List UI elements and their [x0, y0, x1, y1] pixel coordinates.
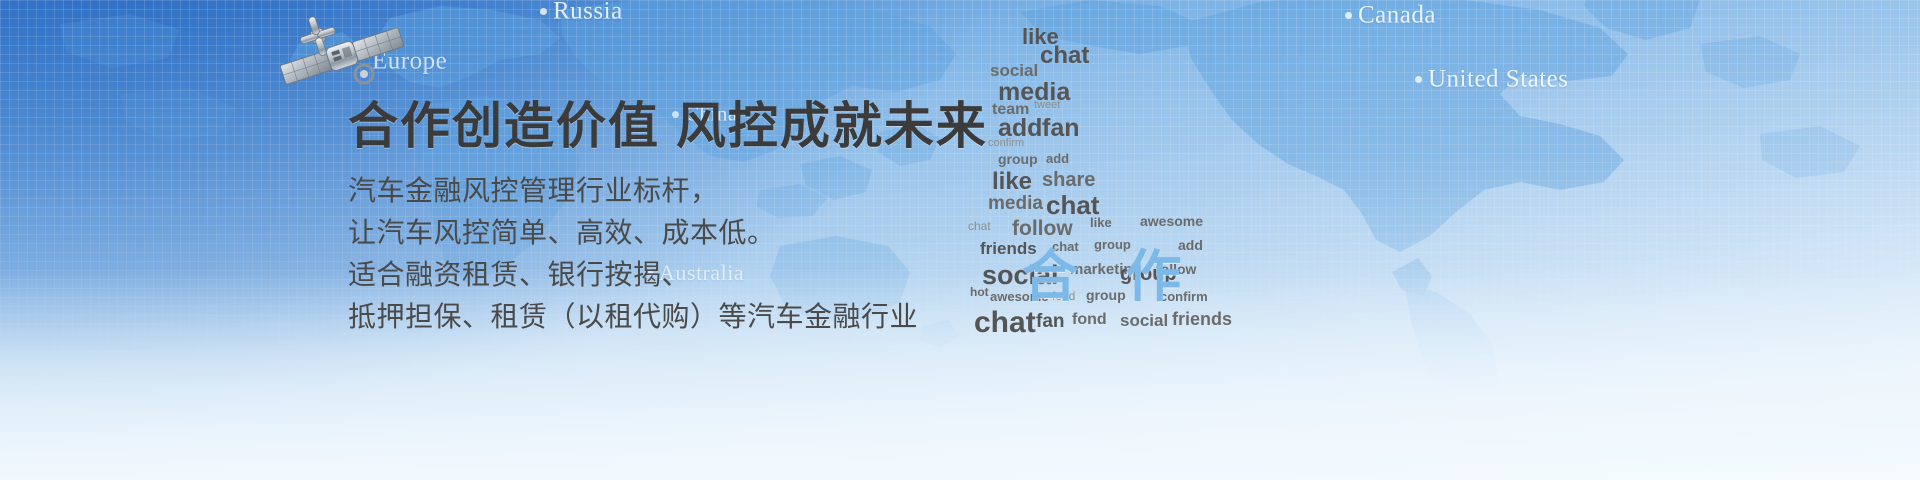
hero-banner: Russia Canada Europe United States China… — [0, 0, 1920, 480]
wordcloud-word: fond — [1072, 312, 1107, 328]
wordcloud-word: marketing — [1070, 262, 1142, 277]
map-pin-dot — [540, 8, 547, 15]
wordcloud-word: follow — [1156, 262, 1196, 276]
wordcloud-word: group — [998, 152, 1038, 166]
map-label-europe: Europe — [372, 46, 447, 75]
map-pin-dot — [1345, 12, 1352, 19]
wordcloud-word: hot — [970, 286, 989, 298]
wordcloud-word: awesome — [1140, 214, 1203, 228]
wordcloud-word: like — [1022, 26, 1059, 48]
wordcloud-word: chat — [1046, 192, 1099, 218]
wordcloud-word: chat — [1052, 240, 1079, 253]
wordcloud-word: social — [982, 262, 1059, 289]
wordcloud-word: add — [998, 116, 1042, 141]
map-label-text: Canada — [1358, 1, 1436, 28]
wordcloud-word: group — [1120, 264, 1177, 284]
map-label-canada: Canada — [1345, 0, 1436, 29]
wordcloud-word: fan — [1042, 116, 1080, 141]
wordcloud-word: confirm — [1160, 290, 1208, 303]
wordcloud-word: chat — [974, 308, 1036, 338]
map-label-russia: Russia — [540, 0, 623, 25]
map-label-text: Europe — [372, 47, 447, 74]
subcopy-line: 适合融资租赁、银行按揭、 — [348, 254, 968, 296]
subcopy-line: 抵押担保、租赁（以租代购）等汽车金融行业 — [348, 296, 968, 338]
wordcloud-word: fond — [1052, 290, 1075, 302]
wordcloud-word: group — [1086, 288, 1126, 302]
wordcloud-word: add — [1046, 152, 1069, 165]
wordcloud-word: confirm — [988, 138, 1024, 149]
wordcloud-word: awesome — [990, 290, 1049, 303]
satellite-icon — [278, 12, 406, 100]
wordcloud-word: add — [1178, 238, 1203, 252]
copy-block: 合作创造价值 风控成就未来 汽车金融风控管理行业标杆， 让汽车风控简单、高效、成… — [348, 98, 968, 338]
wordcloud-word: friends — [980, 240, 1037, 257]
wordcloud-word: like — [1090, 216, 1112, 229]
wordcloud-word: follow — [1012, 218, 1073, 239]
wordcloud-word: media — [988, 194, 1043, 213]
subcopy-block: 汽车金融风控管理行业标杆， 让汽车风控简单、高效、成本低。 适合融资租赁、银行按… — [348, 170, 968, 338]
subcopy-line: 让汽车风控简单、高效、成本低。 — [348, 212, 968, 254]
wordcloud-word: fan — [1036, 312, 1065, 331]
page-title: 合作创造价值 风控成就未来 — [348, 98, 968, 154]
wordcloud-word: social — [1120, 312, 1168, 329]
map-pin-dot — [1415, 76, 1422, 83]
wordcloud-thumbsup-graphic: likechatsocialmediateamtweetaddfanconfir… — [960, 0, 1290, 380]
wordcloud-word: media — [998, 80, 1070, 105]
map-label-united-states: United States — [1415, 64, 1569, 93]
map-label-text: United States — [1428, 65, 1569, 92]
wordcloud-word: friends — [1172, 310, 1232, 328]
wordcloud-word: share — [1042, 170, 1095, 190]
wordcloud-word: tweet — [1034, 100, 1060, 111]
wordcloud-word: social — [990, 62, 1038, 79]
wordcloud-word: like — [992, 170, 1032, 194]
subcopy-line: 汽车金融风控管理行业标杆， — [348, 170, 968, 212]
wordcloud-word: chat — [968, 220, 991, 232]
wordcloud-accent-text: 合 作 — [1022, 232, 1198, 313]
wordcloud-word: team — [992, 102, 1029, 118]
wordcloud-word: chat — [1040, 44, 1089, 68]
map-label-text: Russia — [553, 0, 623, 24]
wordcloud-word: group — [1094, 238, 1131, 251]
